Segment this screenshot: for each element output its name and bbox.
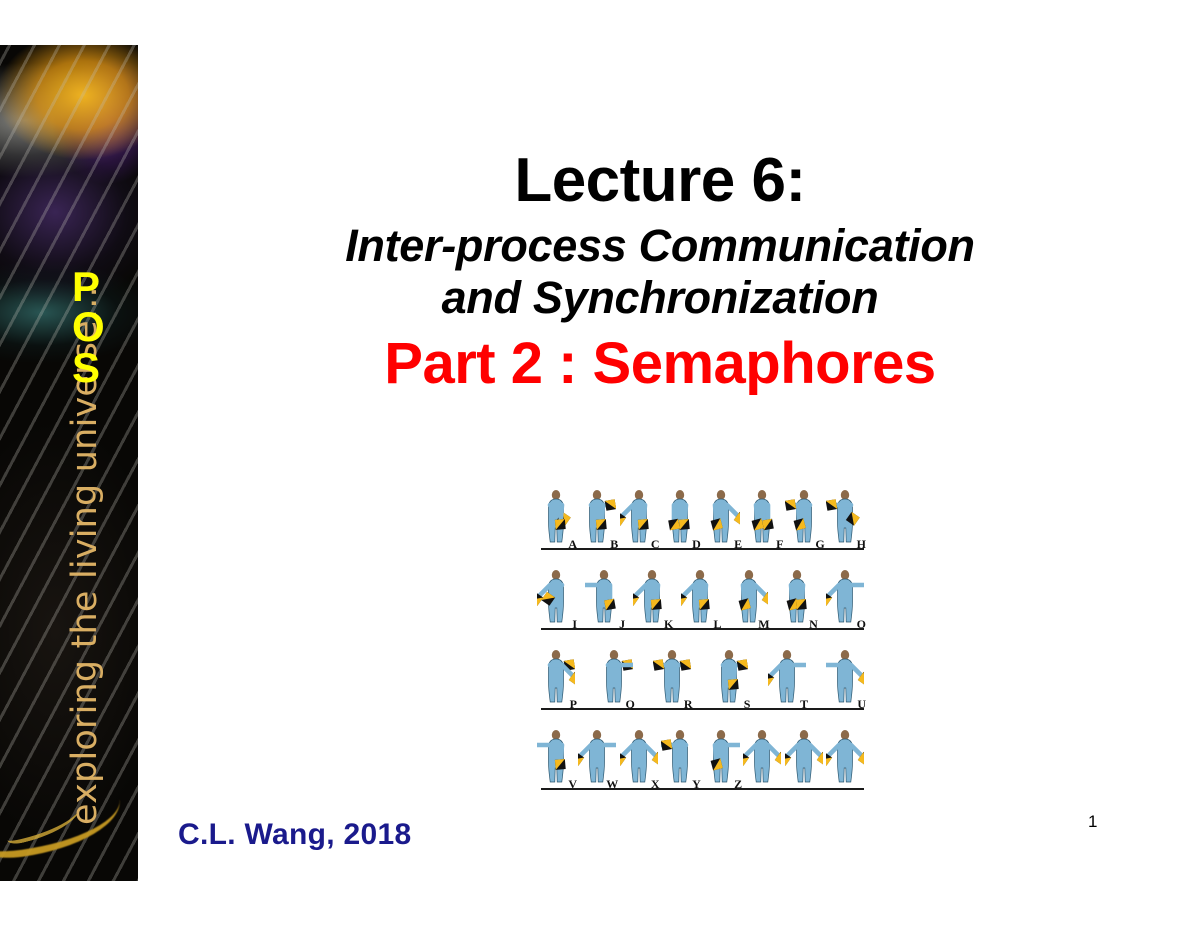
- semaphore-figure-W: W: [578, 718, 616, 790]
- semaphore-figure-R: R: [653, 638, 691, 710]
- semaphore-letter-label: H: [857, 537, 866, 552]
- semaphore-letter-label: W: [606, 777, 618, 792]
- semaphore-figure-D: D: [661, 478, 699, 550]
- semaphore-figure-Y: Y: [661, 718, 699, 790]
- semaphore-letter-label: C: [651, 537, 660, 552]
- semaphore-figure-Q: Q: [595, 638, 633, 710]
- semaphore-figure-B: B: [578, 478, 616, 550]
- semaphore-figure-U: U: [826, 638, 864, 710]
- semaphore-row: PQRSTU: [533, 638, 868, 716]
- semaphore-letter-label: K: [664, 617, 673, 632]
- semaphore-figure-O: O: [826, 558, 864, 630]
- semaphore-baseline: [541, 708, 864, 710]
- semaphore-letter-label: N: [809, 617, 818, 632]
- semaphore-figure-K: K: [633, 558, 671, 630]
- semaphore-figure-P: P: [537, 638, 575, 710]
- semaphore-letter-label: O: [857, 617, 866, 632]
- part-title: Part 2 : Semaphores: [150, 334, 1170, 395]
- semaphore-letter-label: S: [744, 697, 751, 712]
- semaphore-figure-S: S: [710, 638, 748, 710]
- semaphore-figure-G: G: [785, 478, 823, 550]
- semaphore-figure-M: M: [730, 558, 768, 630]
- semaphore-figure-J: J: [585, 558, 623, 630]
- semaphore-figure-X: X: [620, 718, 658, 790]
- semaphore-figure-special: [785, 718, 823, 790]
- author-credit: C.L. Wang, 2018: [178, 818, 411, 852]
- semaphore-letter-label: I: [572, 617, 577, 632]
- semaphore-letter-label: J: [619, 617, 625, 632]
- lecture-title: Lecture 6:: [150, 150, 1170, 212]
- semaphore-figure-L: L: [681, 558, 719, 630]
- pos-letter-s: S: [72, 348, 105, 388]
- pos-acronym: P O S: [72, 267, 105, 388]
- semaphore-row-figures: VWXYZ: [533, 718, 868, 790]
- sidebar-tagline: exploring the living universe...: [65, 65, 105, 825]
- semaphore-row-figures: IJKLMNO: [533, 558, 868, 630]
- pos-letter-p: P: [72, 267, 105, 307]
- semaphore-letter-label: D: [692, 537, 701, 552]
- subtitle-line-1: Inter-process Communication: [150, 220, 1170, 272]
- slide-number: 1: [1088, 812, 1097, 832]
- semaphore-letter-label: Z: [734, 777, 742, 792]
- semaphore-letter-label: L: [713, 617, 721, 632]
- pos-letter-o: O: [72, 307, 105, 347]
- semaphore-letter-label: Q: [625, 697, 634, 712]
- semaphore-letter-label: R: [684, 697, 693, 712]
- semaphore-letter-label: G: [815, 537, 824, 552]
- semaphore-row: ABCDEFGH: [533, 478, 868, 556]
- decorative-sidebar: exploring the living universe... P O S: [0, 45, 138, 881]
- semaphore-row: IJKLMNO: [533, 558, 868, 636]
- title-block: Lecture 6: Inter-process Communication a…: [150, 150, 1170, 395]
- semaphore-letter-label: E: [734, 537, 742, 552]
- semaphore-figure-I: I: [537, 558, 575, 630]
- slide-canvas: exploring the living universe... P O S L…: [0, 0, 1200, 927]
- semaphore-letter-label: M: [758, 617, 769, 632]
- semaphore-letter-label: U: [857, 697, 866, 712]
- semaphore-letter-label: V: [568, 777, 577, 792]
- semaphore-letter-label: B: [610, 537, 618, 552]
- semaphore-figure-T: T: [768, 638, 806, 710]
- semaphore-figure-Z: Z: [702, 718, 740, 790]
- semaphore-alphabet-image: ABCDEFGH IJKLMNO PQRSTU VWXYZ: [533, 478, 868, 798]
- semaphore-figure-F: F: [743, 478, 781, 550]
- semaphore-figure-V: V: [537, 718, 575, 790]
- semaphore-row-figures: ABCDEFGH: [533, 478, 868, 550]
- subtitle-line-2: and Synchronization: [150, 272, 1170, 324]
- semaphore-letter-label: A: [568, 537, 577, 552]
- semaphore-row-figures: PQRSTU: [533, 638, 868, 710]
- semaphore-row: VWXYZ: [533, 718, 868, 796]
- semaphore-letter-label: X: [651, 777, 660, 792]
- semaphore-letter-label: Y: [692, 777, 701, 792]
- semaphore-letter-label: P: [570, 697, 577, 712]
- semaphore-letter-label: T: [800, 697, 808, 712]
- semaphore-baseline: [541, 788, 864, 790]
- semaphore-figure-special: [743, 718, 781, 790]
- semaphore-figure-H: H: [826, 478, 864, 550]
- semaphore-letter-label: F: [776, 537, 783, 552]
- semaphore-figure-E: E: [702, 478, 740, 550]
- semaphore-figure-C: C: [620, 478, 658, 550]
- semaphore-figure-N: N: [778, 558, 816, 630]
- semaphore-figure-A: A: [537, 478, 575, 550]
- semaphore-figure-special: [826, 718, 864, 790]
